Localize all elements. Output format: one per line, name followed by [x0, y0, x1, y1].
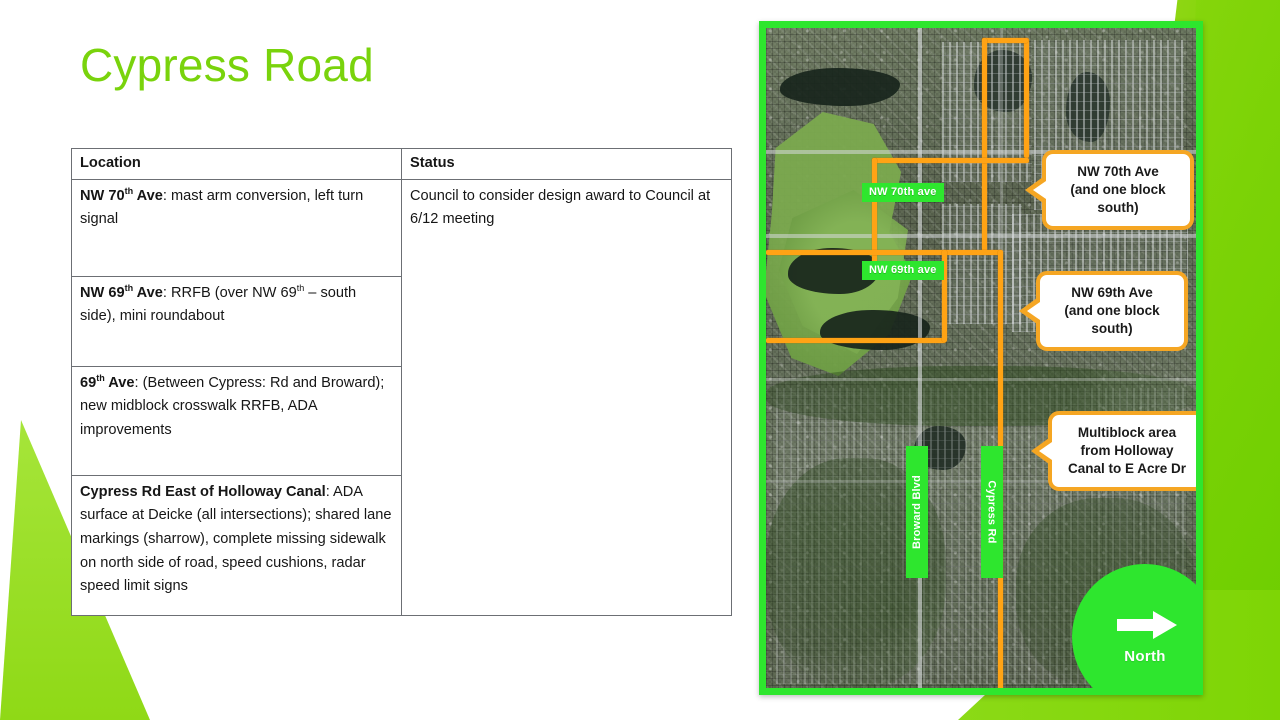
- street-label-nw-69th-ave: NW 69th ave: [862, 261, 944, 280]
- callout-line: Multiblock area: [1062, 424, 1192, 442]
- callout-line: NW 69th Ave: [1050, 284, 1174, 302]
- location-name-prefix: 69: [80, 375, 96, 391]
- location-name-suffix: Ave: [133, 285, 163, 301]
- route-segment: [766, 250, 1002, 255]
- callout-tail-inner-icon: [1033, 181, 1046, 199]
- route-segment: [1024, 38, 1029, 158]
- cell-location-row1: NW 70th Ave: mast arm conversion, left t…: [72, 179, 402, 276]
- street-label-broward-blvd-text: Broward Blvd: [911, 475, 923, 549]
- page-title: Cypress Road: [80, 40, 374, 91]
- callout-nw-69th-ave: NW 69th Ave (and one block south): [1036, 271, 1188, 351]
- callout-line: from Holloway: [1062, 442, 1192, 460]
- cell-location-row4: Cypress Rd East of Holloway Canal: ADA s…: [72, 475, 402, 615]
- street-label-cypress-rd: Cypress Rd: [981, 446, 1003, 578]
- callout-tail-inner-icon: [1027, 302, 1040, 320]
- aerial-map-image: NW 70th ave NW 69th ave Broward Blvd Cyp…: [766, 28, 1196, 688]
- cell-status-merged: Council to consider design award to Coun…: [402, 179, 732, 615]
- projects-table-wrapper: Location Status NW 70th Ave: mast arm co…: [71, 148, 731, 616]
- location-name-suffix: Ave: [105, 375, 135, 391]
- ordinal-suffix: th: [96, 373, 105, 383]
- column-header-status: Status: [402, 149, 732, 180]
- street-label-broward-blvd: Broward Blvd: [906, 446, 928, 578]
- road-line: [918, 28, 922, 688]
- status-text: Council to consider design award to Coun…: [410, 188, 710, 228]
- route-segment: [982, 38, 987, 253]
- route-segment: [872, 158, 1029, 163]
- water-body: [780, 68, 900, 106]
- road-line: [766, 378, 1196, 381]
- route-segment: [982, 38, 1028, 43]
- cell-location-row2: NW 69th Ave: RRFB (over NW 69th – south …: [72, 276, 402, 366]
- ordinal-suffix: th: [125, 283, 134, 293]
- callout-tail-inner-icon: [1039, 442, 1052, 460]
- street-label-cypress-rd-text: Cypress Rd: [986, 480, 998, 543]
- callout-line: (and one block: [1056, 181, 1180, 199]
- compass-north-label: North: [1124, 648, 1166, 665]
- road-line: [766, 234, 1196, 238]
- callout-line: (and one block: [1050, 302, 1174, 320]
- street-label-nw-70th-ave: NW 70th ave: [862, 183, 944, 202]
- arrow-right-icon: [1115, 610, 1179, 640]
- callout-line: south): [1050, 320, 1174, 338]
- table-header-row: Location Status: [72, 149, 732, 180]
- callout-line: Canal to E Acre Dr: [1062, 460, 1192, 478]
- projects-table: Location Status NW 70th Ave: mast arm co…: [71, 148, 732, 616]
- table-row: NW 70th Ave: mast arm conversion, left t…: [72, 179, 732, 276]
- ordinal-suffix: th: [125, 186, 134, 196]
- location-name-prefix: NW 69: [80, 285, 125, 301]
- location-description: : RRFB (over NW 69: [163, 285, 297, 301]
- location-name-prefix: Cypress Rd East of Holloway Canal: [80, 484, 326, 500]
- water-body: [820, 310, 930, 350]
- location-name-prefix: NW 70: [80, 188, 125, 204]
- column-header-location: Location: [72, 149, 402, 180]
- route-segment: [766, 338, 946, 343]
- callout-line: NW 70th Ave: [1056, 163, 1180, 181]
- callout-nw-70th-ave: NW 70th Ave (and one block south): [1042, 150, 1194, 230]
- aerial-map-frame: NW 70th ave NW 69th ave Broward Blvd Cyp…: [759, 21, 1203, 695]
- cell-location-row3: 69th Ave: (Between Cypress: Rd and Browa…: [72, 366, 402, 475]
- callout-line: south): [1056, 199, 1180, 217]
- location-description: : ADA surface at Deicke (all intersectio…: [80, 484, 391, 595]
- location-name-suffix: Ave: [133, 188, 163, 204]
- callout-multiblock-area: Multiblock area from Holloway Canal to E…: [1048, 411, 1196, 491]
